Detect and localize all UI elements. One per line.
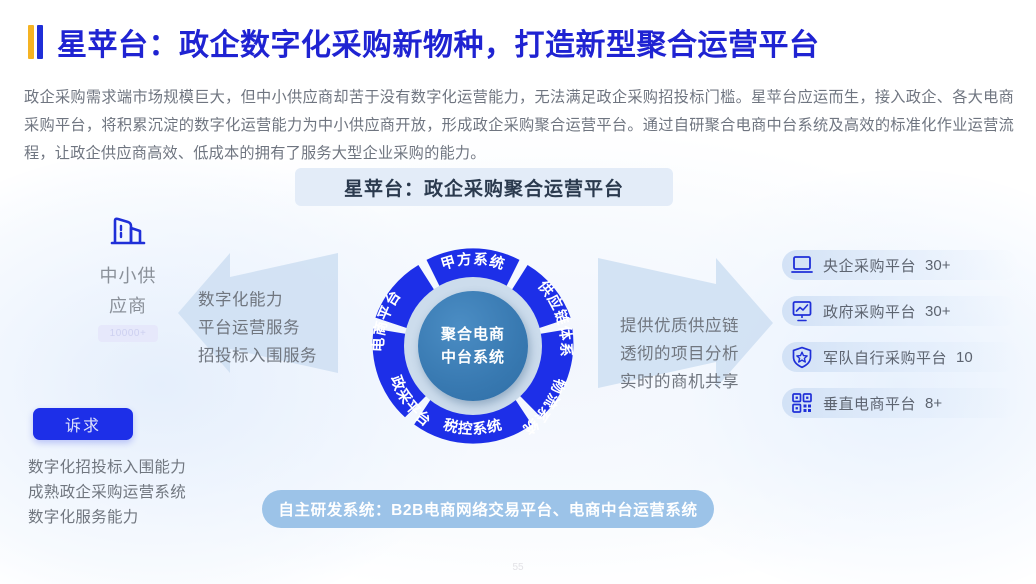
demand-list: 数字化招投标入围能力 成熟政企采购运营系统 数字化服务能力 <box>28 455 186 530</box>
hub-line-2: 中台系统 <box>441 346 505 369</box>
demand-chip-label: 诉求 <box>65 412 101 436</box>
platform-name-3: 垂直电商平台 <box>823 393 916 414</box>
platform-count-1: 30+ <box>925 303 950 320</box>
platform-headline-pill: 星苹台：政企采购聚合运营平台 <box>295 168 673 206</box>
platform-count-2: 10 <box>956 349 973 366</box>
slide-canvas: 星苹台：政企数字化采购新物种，打造新型聚合运营平台 政企采购需求端市场规模巨大，… <box>0 0 1036 584</box>
title-accent-bar-blue <box>37 25 43 59</box>
platform-name-0: 央企采购平台 <box>823 255 916 276</box>
intro-paragraph: 政企采购需求端市场规模巨大，但中小供应商却苦于没有数字化运营能力，无法满足政企采… <box>24 84 1014 168</box>
shield-star-icon <box>790 345 814 369</box>
title-accent-bar-yellow <box>28 25 34 59</box>
sme-panel: 中小供 应商 10000+ <box>88 212 168 372</box>
platform-row-1[interactable]: 政府采购平台 30+ <box>782 296 1018 326</box>
chart-board-icon <box>790 299 814 323</box>
demand-item-2: 成熟政企采购运营系统 <box>28 480 186 505</box>
demand-item-1: 数字化招投标入围能力 <box>28 455 186 480</box>
left-arrow-line-2: 平台运营服务 <box>198 314 317 342</box>
left-arrow-line-1: 数字化能力 <box>198 286 317 314</box>
demand-chip[interactable]: 诉求 <box>33 408 133 440</box>
right-arrow-line-2: 透彻的项目分析 <box>620 340 739 368</box>
right-arrow-line-3: 实时的商机共享 <box>620 368 739 396</box>
right-arrow-text: 提供优质供应链 透彻的项目分析 实时的商机共享 <box>620 312 739 396</box>
page-number: 55 <box>0 562 1036 573</box>
platform-row-3[interactable]: 垂直电商平台 8+ <box>782 388 1018 418</box>
platform-count-0: 30+ <box>925 257 950 274</box>
platform-row-0[interactable]: 央企采购平台 30+ <box>782 250 1018 280</box>
monitor-icon <box>790 253 814 277</box>
sme-label-line1: 中小供 <box>100 261 157 291</box>
sme-label-line2: 应商 <box>109 291 147 321</box>
hub-line-1: 聚合电商 <box>441 323 505 346</box>
platform-headline-text: 星苹台：政企采购聚合运营平台 <box>344 174 624 201</box>
platform-name-2: 军队自行采购平台 <box>823 347 947 368</box>
platform-list: 央企采购平台 30+ 政府采购平台 30+ 军队 <box>782 250 1018 434</box>
platform-name-1: 政府采购平台 <box>823 301 916 322</box>
wheel-center-hub: 聚合电商 中台系统 <box>418 291 528 401</box>
banner-text: 自主研发系统：B2B电商网络交易平台、电商中台运营系统 <box>278 498 697 520</box>
platform-row-2[interactable]: 军队自行采购平台 10 <box>782 342 1018 372</box>
factory-icon <box>109 212 147 253</box>
page-title: 星苹台：政企数字化采购新物种，打造新型聚合运营平台 <box>57 20 820 64</box>
left-arrow-text: 数字化能力 平台运营服务 招投标入围服务 <box>198 286 317 370</box>
platform-count-3: 8+ <box>925 395 942 412</box>
sme-count-badge: 10000+ <box>98 325 159 342</box>
qrcode-icon <box>790 391 814 415</box>
page-title-row: 星苹台：政企数字化采购新物种，打造新型聚合运营平台 <box>28 22 820 62</box>
left-arrow-line-3: 招投标入围服务 <box>198 342 317 370</box>
demand-item-3: 数字化服务能力 <box>28 505 186 530</box>
right-arrow-line-1: 提供优质供应链 <box>620 312 739 340</box>
self-developed-systems-banner: 自主研发系统：B2B电商网络交易平台、电商中台运营系统 <box>262 490 714 528</box>
